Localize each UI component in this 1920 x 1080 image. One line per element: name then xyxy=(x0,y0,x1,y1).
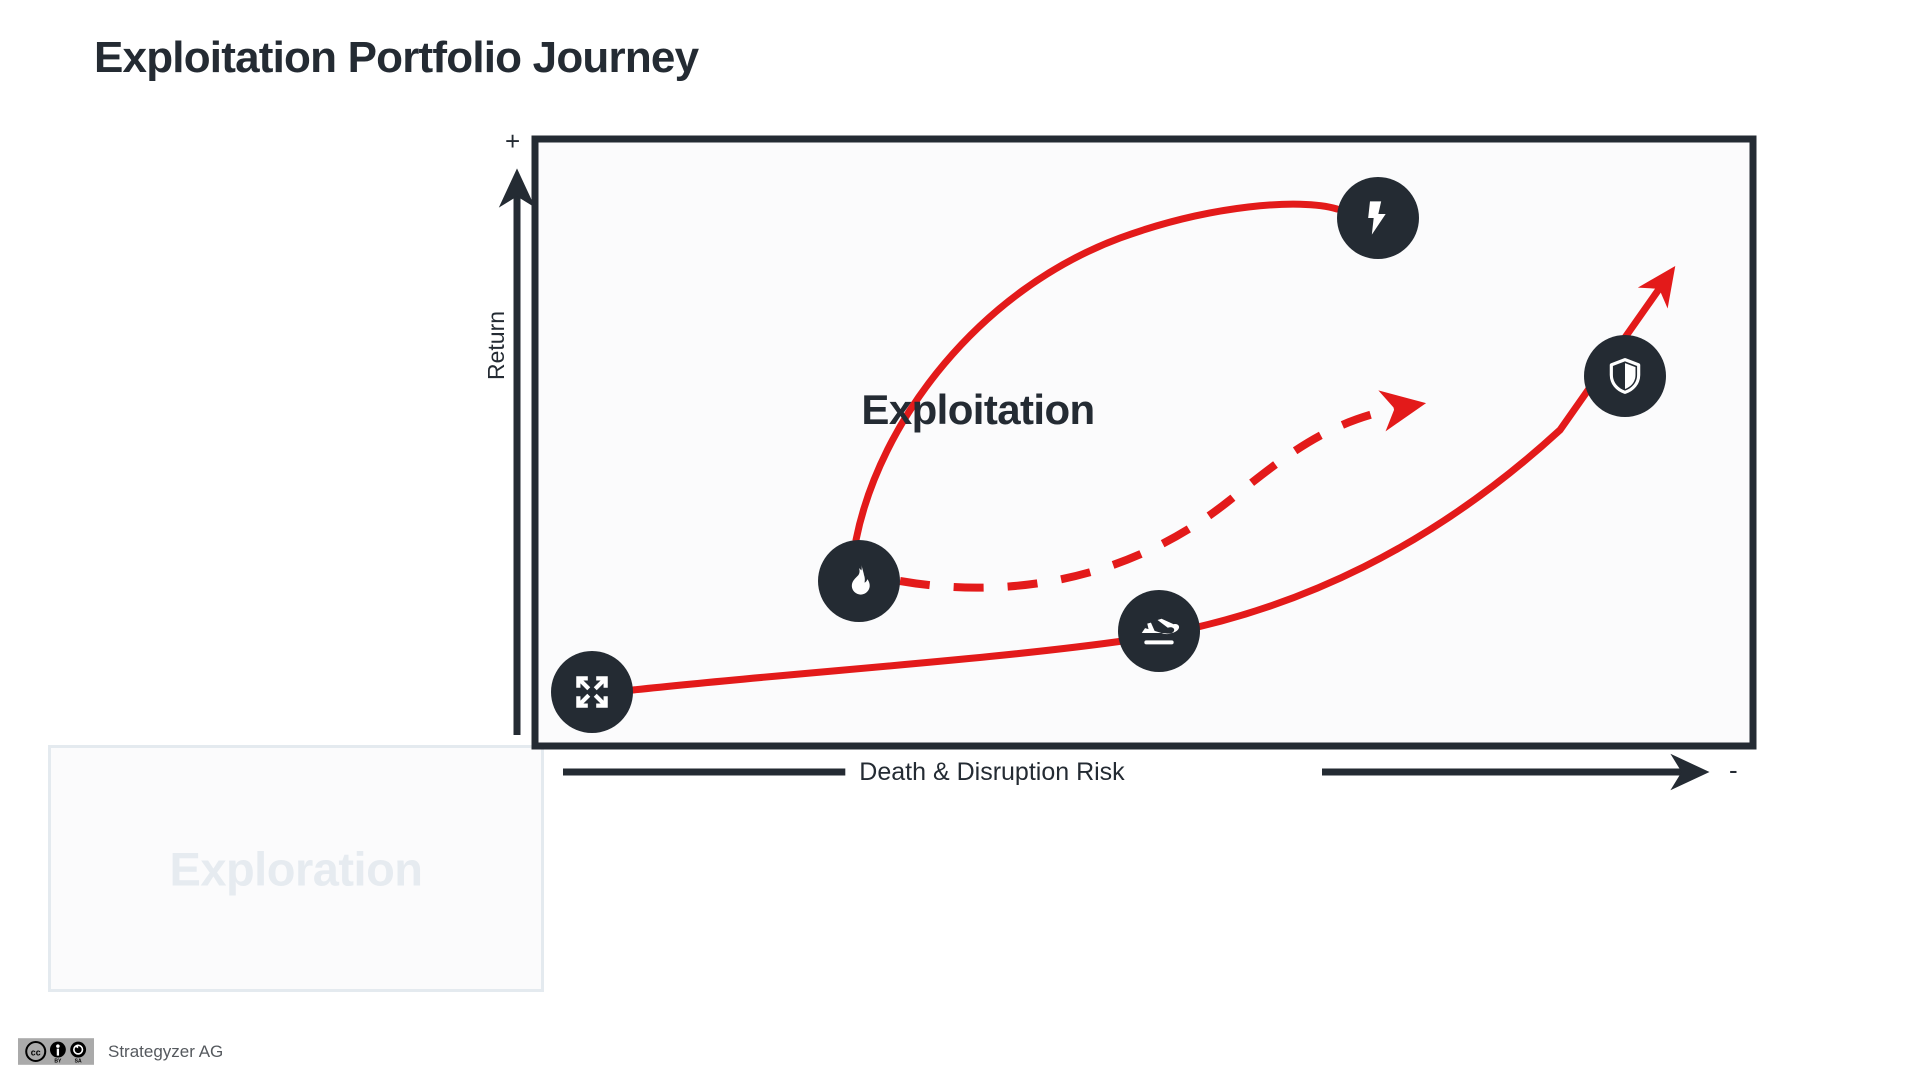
expand-icon xyxy=(571,671,613,713)
exploration-card-label: Exploration xyxy=(51,841,541,896)
node-expand[interactable] xyxy=(551,651,633,733)
x-axis-label: Death & Disruption Risk xyxy=(845,758,1138,787)
node-shield[interactable] xyxy=(1584,335,1666,417)
trajectory-upper xyxy=(856,204,1337,540)
page-title: Exploitation Portfolio Journey xyxy=(94,33,698,83)
svg-text:SA: SA xyxy=(75,1058,82,1064)
exploration-card[interactable]: Exploration xyxy=(48,745,544,992)
x-axis-minus-marker: - xyxy=(1729,757,1738,783)
flame-icon xyxy=(839,561,879,601)
footer-attribution: Strategyzer AG xyxy=(108,1042,223,1062)
cc-by-sa-badge-icon[interactable]: cc BY SA xyxy=(18,1038,94,1065)
footer: cc BY SA Strategyzer AG xyxy=(18,1038,223,1065)
quadrant-label-exploitation: Exploitation xyxy=(861,386,1094,434)
svg-text:cc: cc xyxy=(31,1047,41,1057)
shield-icon xyxy=(1605,356,1645,396)
bolt-icon xyxy=(1358,198,1398,238)
y-axis-plus-marker: + xyxy=(505,128,520,154)
y-axis-label: Return xyxy=(483,260,510,380)
node-plane-takeoff[interactable] xyxy=(1118,590,1200,672)
node-bolt[interactable] xyxy=(1337,177,1419,259)
node-flame[interactable] xyxy=(818,540,900,622)
svg-text:BY: BY xyxy=(54,1058,62,1064)
trajectory-dashed xyxy=(900,407,1404,588)
plane-takeoff-icon xyxy=(1137,609,1181,653)
